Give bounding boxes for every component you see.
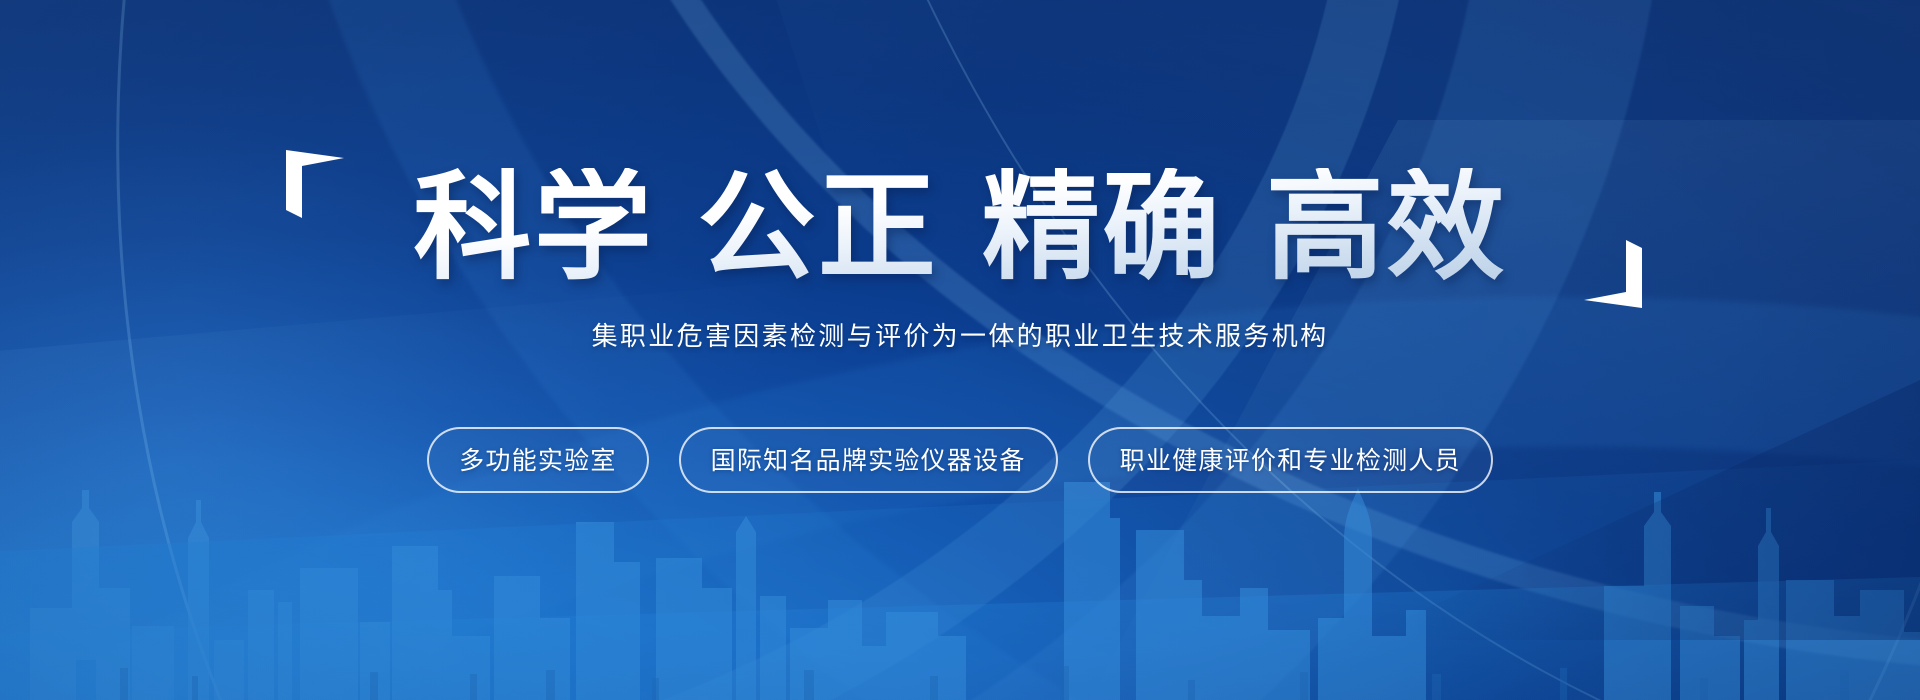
feature-badge-lab[interactable]: 多功能实验室 [427, 427, 649, 493]
page-title: 科学 公正 精确 高效 [413, 168, 1506, 286]
feature-badge-list: 多功能实验室 国际知名品牌实验仪器设备 职业健康评价和专业检测人员 [427, 427, 1493, 493]
feature-badge-equipment[interactable]: 国际知名品牌实验仪器设备 [679, 427, 1058, 493]
close-quote-bracket-icon [1582, 238, 1644, 312]
banner-content: 科学 公正 精确 高效 集职业危害因素检测与评价为一体的职业卫生技术服务机构 多… [0, 0, 1920, 700]
feature-badge-personnel[interactable]: 职业健康评价和专业检测人员 [1088, 427, 1493, 493]
headline-group: 科学 公正 精确 高效 [330, 168, 1590, 286]
open-quote-bracket-icon [284, 146, 346, 220]
banner-subtitle: 集职业危害因素检测与评价为一体的职业卫生技术服务机构 [592, 316, 1329, 353]
hero-banner: 科学 公正 精确 高效 集职业危害因素检测与评价为一体的职业卫生技术服务机构 多… [0, 0, 1920, 700]
